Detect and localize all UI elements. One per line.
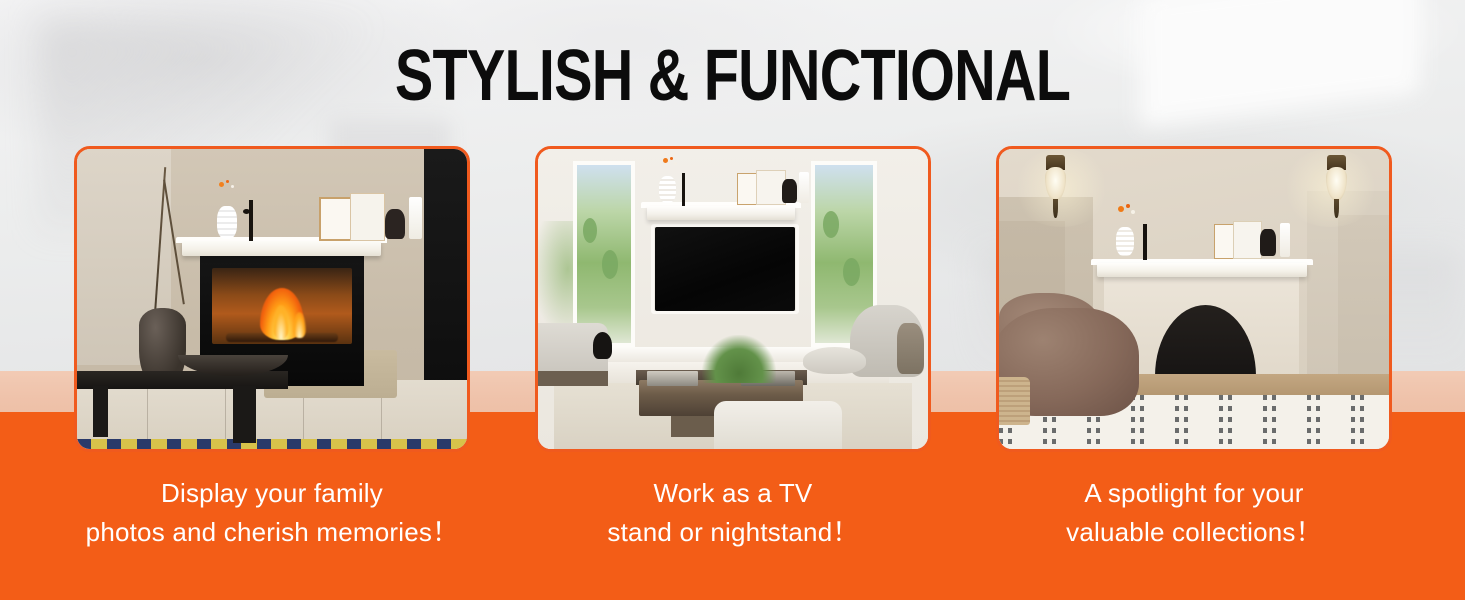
foliage (823, 211, 839, 238)
woven-basket (999, 377, 1030, 425)
television-frame (651, 224, 799, 314)
caption-line-1: Display your family (57, 474, 487, 513)
feature-caption-1: Display your family photos and cherish m… (57, 474, 487, 552)
caption-line-2: photos and cherish memories！ (57, 513, 487, 552)
console-table-leg-left (93, 386, 109, 437)
fireplace-scene-image (77, 149, 467, 449)
dark-sculpture (782, 179, 798, 203)
armchair-arm (897, 323, 924, 374)
banner-title: STYLISH & FUNCTIONAL (147, 38, 1319, 114)
dark-column (424, 149, 467, 413)
window-left (573, 161, 635, 347)
white-ribbed-vase (1116, 227, 1134, 256)
caption-line-1: A spotlight for your (979, 474, 1409, 513)
product-feature-banner: STYLISH & FUNCTIONAL (0, 0, 1465, 600)
living-room-tv-scene-image (538, 149, 928, 449)
dark-sculpture (1260, 229, 1276, 256)
black-candlestick (1143, 224, 1147, 260)
sconce-finial (1053, 199, 1057, 219)
dark-sculpture (385, 209, 405, 239)
white-ribbed-vase (659, 176, 677, 203)
black-candlestick (682, 173, 685, 206)
wall-sconce-right (1323, 155, 1350, 221)
feature-caption-2: Work as a TV stand or nightstand！ (518, 474, 948, 552)
floor-sculpture (593, 332, 613, 359)
foliage (583, 218, 597, 243)
feature-image-panel-1 (74, 146, 470, 452)
arched-fireplace-scene-image (999, 149, 1389, 449)
sofa-base (538, 371, 608, 386)
floating-shelf (647, 206, 795, 220)
fire-flame-small-right (293, 312, 306, 338)
feature-image-panel-3 (996, 146, 1392, 452)
potted-plant (702, 335, 776, 383)
sconce-glass (1326, 167, 1347, 201)
picture-frame-second (350, 193, 385, 241)
white-ribbed-vase (217, 206, 237, 239)
sconce-finial (1334, 199, 1338, 219)
wall-sconce-left (1042, 155, 1069, 221)
console-table-leg (233, 386, 256, 443)
sconce-glass (1045, 167, 1066, 201)
fireplace-opening (212, 268, 352, 345)
foliage (843, 258, 860, 286)
white-candle (799, 172, 809, 204)
black-candlestick (249, 200, 253, 241)
caption-line-1: Work as a TV (518, 474, 948, 513)
caption-line-2: stand or nightstand！ (518, 513, 948, 552)
picture-frame-second (1233, 221, 1262, 259)
foliage (602, 250, 618, 278)
caption-line-2: valuable collections！ (979, 513, 1409, 552)
ottoman (803, 347, 865, 374)
white-candle (409, 197, 423, 239)
white-candle (1280, 223, 1290, 258)
orange-flowers (663, 158, 668, 163)
stacked-books (647, 371, 698, 386)
feature-caption-3: A spotlight for your valuable collection… (979, 474, 1409, 552)
orange-flowers (1118, 206, 1124, 212)
mantel-shelf (182, 241, 381, 256)
mantel-shelf (1097, 263, 1308, 277)
striped-rug (77, 439, 467, 449)
feature-image-panel-2 (535, 146, 931, 452)
sofa-foreground (714, 401, 843, 449)
